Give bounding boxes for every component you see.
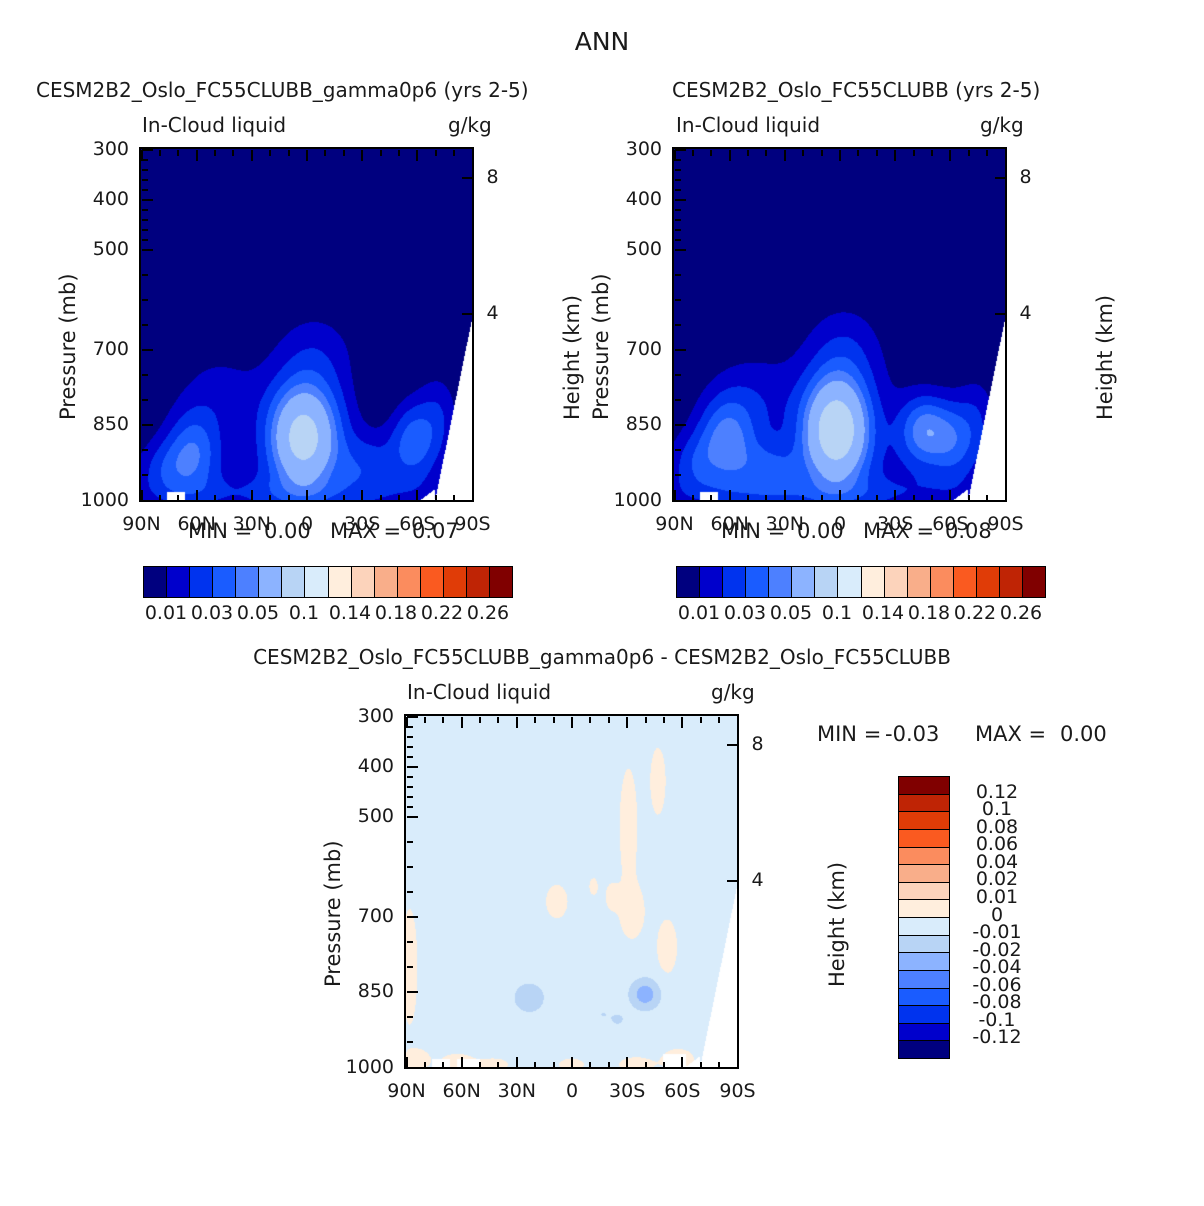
colorbar-swatch [899,989,949,1007]
panel-test-units-label: g/kg [448,113,492,137]
x-axis-tick-label: 90N [655,513,693,535]
colorbar-swatch [931,567,954,597]
y2-axis-tick-label: 4 [752,869,764,891]
x-axis-tick-label: 30N [498,1080,536,1102]
colorbar-swatch [190,567,213,597]
x-axis-tick-label: 60S [664,1080,700,1102]
y-axis-tick-label: 400 [338,755,394,777]
colorbar-swatch [213,567,236,597]
panel-difference-min-value: -0.03 [885,722,939,746]
y2-axis-tick-label: 4 [1020,302,1032,324]
colorbar-tick-label: -0.06 [960,974,1034,996]
y-axis-tick-label: 850 [73,413,129,435]
colorbar-swatch [899,936,949,954]
colorbar-swatch [490,567,512,597]
y-axis-tick-label: 400 [73,188,129,210]
colorbar-swatch [167,567,190,597]
y2-axis-tick-label: 8 [752,733,764,755]
x-axis-tick-label: 90N [387,1080,425,1102]
panel-difference-contour-field [406,716,737,1067]
colorbar-tick-label: 0.26 [1000,602,1042,624]
panel-control-y2label: Height (km) [1093,295,1117,420]
colorbar-tick-label: 0.02 [960,868,1034,890]
colorbar-swatch [899,918,949,936]
colorbar-tick-label: -0.02 [960,939,1034,961]
colorbar-tick-label: 0.26 [467,602,509,624]
colorbar-swatch [838,567,861,597]
colorbar-tick-label: 0.04 [960,851,1034,873]
x-axis-tick-label: 60N [442,1080,480,1102]
panel-control-max-label: MAX = [863,519,934,543]
panel-test-contour-field [141,149,472,500]
colorbar-tick-label: -0.12 [960,1026,1034,1048]
colorbar-tick-label: 0.14 [862,602,904,624]
y2-axis-tick-label: 8 [487,166,499,188]
colorbar-tick-label: 0.18 [375,602,417,624]
panel-difference-min-label: MIN = [817,722,881,746]
x-axis-tick-label: 90S [987,513,1023,535]
panel-difference-plot-area[interactable] [404,714,739,1069]
y2-axis-tick-label: 4 [487,302,499,324]
colorbar-tick-label: 0.22 [954,602,996,624]
colorbar-swatch [723,567,746,597]
panel-difference-title: CESM2B2_Oslo_FC55CLUBB_gamma0p6 - CESM2B… [253,645,951,669]
y-axis-tick-label: 400 [606,188,662,210]
colorbar-tick-label: 0.05 [237,602,279,624]
x-axis-tick-label: 90S [719,1080,755,1102]
colorbar-swatch [899,953,949,971]
panel-test-plot-area[interactable] [139,147,474,502]
y-axis-tick-label: 500 [73,238,129,260]
y-axis-tick-label: 1000 [73,489,129,511]
colorbar-swatch [862,567,885,597]
colorbar-swatch [899,795,949,813]
colorbar-tick-label: 0.1 [822,602,852,624]
colorbar-tick-label: 0 [960,904,1034,926]
colorbar-tick-label: 0.12 [960,781,1034,803]
y-axis-tick-label: 700 [606,338,662,360]
colorbar-tick-label: 0.01 [678,602,720,624]
colorbar-swatch [282,567,305,597]
colorbar-swatch [421,567,444,597]
colorbar-tick-label: -0.01 [960,921,1034,943]
panel-control-contour-field [674,149,1005,500]
x-axis-tick-label: 90S [454,513,490,535]
y-axis-tick-label: 500 [606,238,662,260]
y-axis-tick-label: 700 [338,905,394,927]
panel-difference-variable-label: In-Cloud liquid [407,680,551,704]
panel-control-variable-label: In-Cloud liquid [676,113,820,137]
colorbar-swatch [885,567,908,597]
colorbar-swatch [977,567,1000,597]
panel-control-title: CESM2B2_Oslo_FC55CLUBB (yrs 2-5) [672,78,1040,102]
colorbar-tick-label: 0.03 [724,602,766,624]
panel-test-title: CESM2B2_Oslo_FC55CLUBB_gamma0p6 (yrs 2-5… [36,78,529,102]
y-axis-tick-label: 700 [73,338,129,360]
panel-test-y2label: Height (km) [560,295,584,420]
y-axis-tick-label: 300 [73,138,129,160]
colorbar-tick-label: 0.14 [329,602,371,624]
y-axis-tick-label: 850 [606,413,662,435]
colorbar-tick-label: -0.08 [960,991,1034,1013]
colorbar-swatch [954,567,977,597]
colorbar-swatch [899,883,949,901]
panel-difference-units-label: g/kg [711,680,755,704]
colorbar-swatch [375,567,398,597]
colorbar-swatch [746,567,769,597]
colorbar-swatch [305,567,328,597]
panel-control-ylabel: Pressure (mb) [589,273,613,420]
colorbar-swatch [236,567,259,597]
colorbar-swatch [769,567,792,597]
y-axis-tick-label: 300 [606,138,662,160]
colorbar-swatch [899,865,949,883]
colorbar-tick-label: 0.06 [960,833,1034,855]
colorbar-swatch [899,900,949,918]
colorbar-tick-label: 0.01 [145,602,187,624]
colorbar-swatch [899,848,949,866]
colorbar-swatch [1023,567,1045,597]
colorbar-tick-label: 0.03 [191,602,233,624]
colorbar-tick-label: 0.1 [289,602,319,624]
colorbar-swatch [329,567,352,597]
panel-test-max-value: 0.07 [412,519,459,543]
colorbar-tick-label: -0.04 [960,956,1034,978]
colorbar-swatch [259,567,282,597]
colorbar-swatch [899,830,949,848]
panel-test-variable-label: In-Cloud liquid [142,113,286,137]
colorbar-tick-label: 0.22 [421,602,463,624]
colorbar-swatch [144,567,167,597]
panel-control-max-value: 0.08 [945,519,992,543]
y-axis-tick-label: 850 [338,980,394,1002]
panel-difference-max-label: MAX = [975,722,1046,746]
colorbar-tick-label: -0.1 [960,1009,1034,1031]
panel-difference-y2label: Height (km) [825,862,849,987]
colorbar-swatch [899,777,949,795]
y-axis-tick-label: 500 [338,805,394,827]
panel-test-min-label: MIN = [188,519,252,543]
y2-axis-tick-label: 8 [1020,166,1032,188]
colorbar-swatch [677,567,700,597]
colorbar-swatch [899,812,949,830]
panel-difference-colorbar[interactable] [898,776,950,1059]
y-axis-tick-label: 1000 [606,489,662,511]
colorbar-tick-label: 0.18 [908,602,950,624]
colorbar-swatch [899,971,949,989]
panel-test-min-value: 0.00 [264,519,311,543]
colorbar-swatch [467,567,490,597]
panel-test-max-label: MAX = [330,519,401,543]
x-axis-tick-label: 30S [609,1080,645,1102]
panel-control-units-label: g/kg [980,113,1024,137]
x-axis-tick-label: 0 [566,1080,578,1102]
colorbar-swatch [398,567,421,597]
panel-test-colorbar[interactable] [143,566,513,598]
panel-control-plot-area[interactable] [672,147,1007,502]
panel-difference-ylabel: Pressure (mb) [321,840,345,987]
colorbar-swatch [444,567,467,597]
colorbar-swatch [815,567,838,597]
panel-control-min-value: 0.00 [797,519,844,543]
x-axis-tick-label: 90N [122,513,160,535]
colorbar-tick-label: 0.05 [770,602,812,624]
colorbar-swatch [899,1041,949,1058]
y-axis-tick-label: 300 [338,705,394,727]
panel-difference-max-value: 0.00 [1060,722,1107,746]
colorbar-swatch [352,567,375,597]
colorbar-swatch [792,567,815,597]
colorbar-swatch [700,567,723,597]
panel-test-ylabel: Pressure (mb) [56,273,80,420]
colorbar-tick-label: 0.08 [960,816,1034,838]
y-axis-tick-label: 1000 [338,1056,394,1078]
colorbar-swatch [908,567,931,597]
colorbar-tick-label: 0.01 [960,886,1034,908]
panel-control-colorbar[interactable] [676,566,1046,598]
colorbar-swatch [1000,567,1023,597]
panel-control-min-label: MIN = [721,519,785,543]
colorbar-swatch [899,1006,949,1024]
figure-main-title: ANN [575,27,630,56]
colorbar-swatch [899,1024,949,1042]
colorbar-tick-label: 0.1 [960,798,1034,820]
